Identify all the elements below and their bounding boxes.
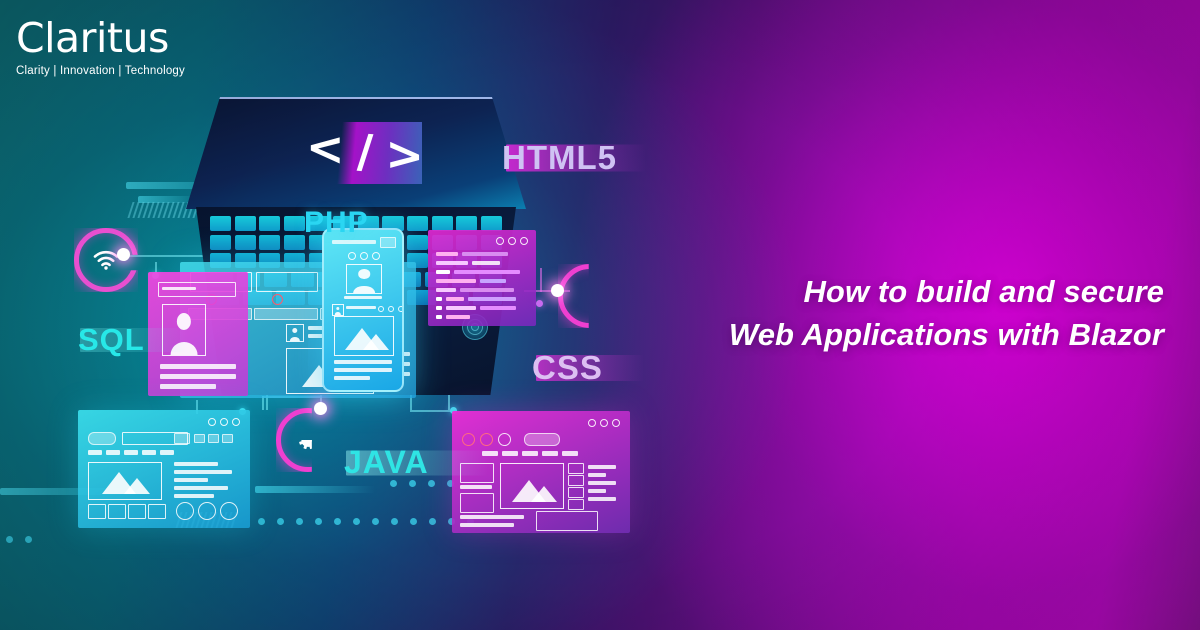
image-placeholder — [500, 463, 564, 509]
tech-label-css: CSS — [532, 349, 603, 387]
code-editor-panel — [428, 230, 536, 326]
headline-line-1: How to build and secure — [729, 270, 1164, 313]
tech-label-html5: HTML5 — [502, 139, 617, 177]
wifi-connector-node — [117, 248, 130, 261]
gear-connector-node — [314, 402, 327, 415]
avatar — [346, 264, 382, 294]
smartphone-mockup — [322, 228, 404, 392]
tech-label-java: JAVA — [344, 444, 429, 481]
brand-name: Claritus — [16, 16, 185, 60]
search-connector-node — [551, 284, 564, 297]
headline-line-2: Web Applications with Blazor — [729, 313, 1164, 356]
brand-logo[interactable]: Claritus Clarity | Innovation | Technolo… — [16, 16, 185, 77]
ui-panel-browser-cyan — [78, 410, 250, 528]
code-symbol-block: < / > — [306, 122, 422, 184]
tech-label-sql: SQL — [78, 322, 145, 358]
image-placeholder — [88, 462, 162, 500]
headline: How to build and secure Web Applications… — [729, 270, 1164, 356]
hatch-lines — [130, 202, 197, 218]
dot-row — [258, 518, 474, 525]
banner-canvas: < / > — [0, 0, 1200, 630]
avatar — [286, 324, 304, 342]
image-placeholder — [334, 316, 394, 356]
code-symbol-glyph: < / > — [306, 113, 422, 189]
brand-tagline: Clarity | Innovation | Technology — [16, 65, 185, 77]
tech-label-php: PHP — [304, 206, 369, 240]
